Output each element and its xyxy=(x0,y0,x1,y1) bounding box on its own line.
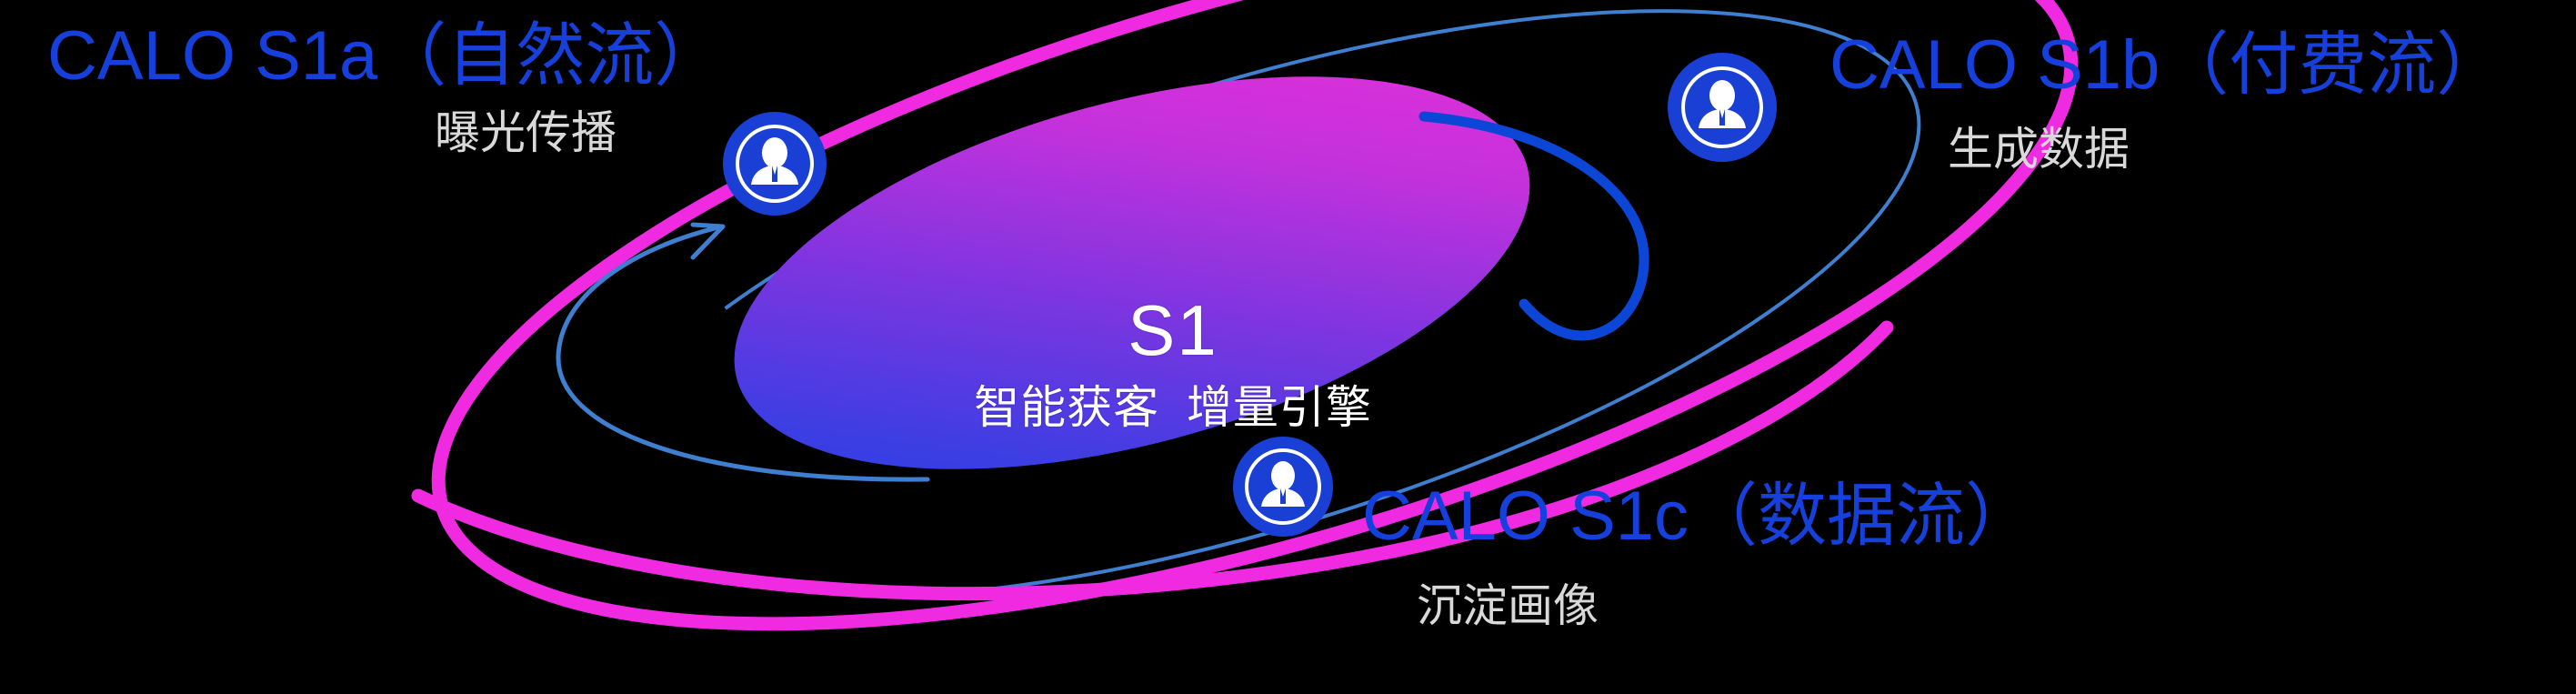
node-badge-s1b[interactable] xyxy=(1668,53,1777,162)
core-ellipse xyxy=(693,2,1572,544)
diagram-canvas: S1 智能获客 增量引擎 CALO S1a（自然流） 曝光传播 CALO S1b… xyxy=(0,0,2576,694)
orbit-diagram-graphic xyxy=(0,0,2576,694)
node-label-s1a: CALO S1a（自然流） xyxy=(47,20,723,93)
node-badge-s1a[interactable] xyxy=(723,112,827,216)
node-label-s1c: CALO S1c（数据流） xyxy=(1362,480,2034,553)
node-sublabel-s1c: 沉淀画像 xyxy=(1417,582,1599,630)
node-label-s1b: CALO S1b（付费流） xyxy=(1829,29,2505,102)
node-badge-s1c[interactable] xyxy=(1233,437,1333,537)
node-sublabel-s1b: 生成数据 xyxy=(1948,126,2130,174)
node-sublabel-s1a: 曝光传播 xyxy=(435,109,616,157)
